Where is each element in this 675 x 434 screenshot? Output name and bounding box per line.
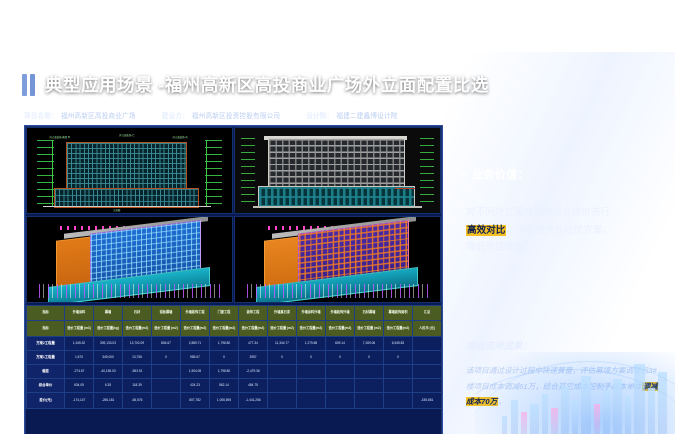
cell: 562.14 xyxy=(210,379,239,393)
cell: 6,545.83 xyxy=(384,337,413,351)
col-subheader: 造价工程量(m2) xyxy=(297,321,326,337)
cell: 1,904.05 xyxy=(181,365,210,379)
meta-value: 福建二建鑫博设计院 xyxy=(336,110,397,120)
cell: 634.05 xyxy=(65,379,94,393)
cell-total xyxy=(413,337,442,351)
col-header: 外墙涂料外墙 xyxy=(297,306,326,321)
cad-ground-line xyxy=(43,206,211,207)
cell xyxy=(152,365,181,379)
cell xyxy=(355,393,384,409)
cell: 2957 xyxy=(239,351,268,365)
meta-key: 设计院： xyxy=(306,110,333,120)
page-title: 典型应用场景 -福州高新区高投商业广场外立面配置比选 xyxy=(45,72,489,97)
meta-value: 福州高新区投资控股有限公司 xyxy=(192,110,280,120)
cell xyxy=(384,379,413,393)
col-header: 外墙装饰外墙 xyxy=(326,306,355,321)
facade-red-marker xyxy=(395,188,416,189)
col-header: 门窗工程 xyxy=(210,306,239,321)
slide-title-row: 典型应用场景 -福州高新区高投商业广场外立面配置比选 xyxy=(22,72,489,97)
cell: 1,798.80 xyxy=(210,365,239,379)
cell: -65,576 xyxy=(123,393,152,409)
col-subheader: 造价工程量(kg) xyxy=(94,321,123,337)
cell: 985.67 xyxy=(181,351,210,365)
cell-total xyxy=(413,379,442,393)
meta-key: 项目名称： xyxy=(24,110,58,120)
col-subheader: 造价工程量 (m2) xyxy=(355,321,384,337)
meta-key: 建设方： xyxy=(162,110,189,120)
table-row: 差价(元) -174,147 -256,181 -65,576 807,782 … xyxy=(27,393,442,409)
table-row: 综合单价 634.05 6.35 118.39 424.23 562.14 48… xyxy=(27,379,442,393)
cad-label-note: 立面图 xyxy=(113,208,120,212)
cell: 118.39 xyxy=(123,379,152,393)
cost-comparison-table: 指标 外墙涂料 幕墙 石材 铝板幕墙 外墙装饰工程 门窗工程 装饰工程 外墙真石… xyxy=(26,305,441,409)
row-label: 偏差 xyxy=(27,365,65,379)
facade-ground-line xyxy=(253,206,421,208)
cell: -2,479.36 xyxy=(239,365,268,379)
project-result-block: 项目应用成果： 该项目通过设计过程中快速算量，评估幕墙方案调整后3#楼项目成本调… xyxy=(466,338,662,410)
cell: 0 xyxy=(384,351,413,365)
bim-landscape-icon xyxy=(247,284,427,298)
business-value-paragraph: 对不同外立面方案的综合造价进行 高效对比，选取经济性较优方案， 降低项目成本。 xyxy=(466,204,666,257)
cell xyxy=(384,365,413,379)
cell xyxy=(297,393,326,409)
cell: 0 xyxy=(326,351,355,365)
cell xyxy=(268,365,297,379)
cell: -553.91 xyxy=(123,365,152,379)
paragraph-line-3: 降低项目成本。 xyxy=(466,242,533,253)
cell xyxy=(297,379,326,393)
bim-landscape-icon xyxy=(39,284,219,298)
col-header: 指标 xyxy=(27,306,65,321)
table-header-row-top: 指标 外墙涂料 幕墙 石材 铝板幕墙 外墙装饰工程 门窗工程 装饰工程 外墙真石… xyxy=(27,306,442,321)
cell xyxy=(355,365,384,379)
cell xyxy=(152,393,181,409)
col-header: 铝板幕墙 xyxy=(152,306,181,321)
cost-comparison-table-wrap: 指标 外墙涂料 幕墙 石材 铝板幕墙 外墙装饰工程 门窗工程 装饰工程 外墙真石… xyxy=(26,305,441,434)
bim-canvas-2 xyxy=(235,217,440,302)
col-subheader: 造价工程量(m2) xyxy=(239,321,268,337)
cell: 0 xyxy=(268,351,297,365)
cell xyxy=(268,379,297,393)
row-label: 差价(元) xyxy=(27,393,65,409)
paragraph-line-2: ，选取经济性较优方案， xyxy=(506,225,612,236)
cell: 0 xyxy=(210,351,239,365)
cad-elevation-drawing: 外立面装饰-幕墙 甲 外立面装饰-乙 外立面装饰-丙 立面图 xyxy=(26,127,233,214)
cell: 349,000 xyxy=(94,351,123,365)
project-result-body: 该项目通过设计过程中快速算量，评估幕墙方案调整后3#楼项目成本调减61万，结合其… xyxy=(466,363,662,410)
content-card: 外立面装饰-幕墙 甲 外立面装饰-乙 外立面装饰-丙 立面图 xyxy=(24,125,443,434)
skyline-building xyxy=(502,416,507,434)
table-header-row-sub: 指标 造价工程量 (m3) 造价工程量(kg) 造价工程量(m2) 造价工程量 … xyxy=(27,321,442,337)
row-label: 方案2工程量 xyxy=(27,337,65,351)
bim-model-scheme-1 xyxy=(26,216,233,303)
business-value-heading: 业务价值： xyxy=(462,166,529,182)
cell xyxy=(326,365,355,379)
col-header: 幕墙 xyxy=(94,306,123,321)
cell xyxy=(355,379,384,393)
cell: -174,147 xyxy=(65,393,94,409)
cell: 6.35 xyxy=(94,379,123,393)
meta-item-owner: 建设方： 福州高新区投资控股有限公司 xyxy=(162,110,281,120)
cad-label-left: 外立面装饰-幕墙 甲 xyxy=(50,135,71,139)
col-header: 外墙涂料 xyxy=(65,306,94,321)
result-text: 该项目通过设计过程中快速算量，评估幕墙方案调整后3#楼项目成本调减61万，结合其… xyxy=(466,366,657,391)
col-header: 外墙装饰工程 xyxy=(181,306,210,321)
col-subheader: 造价工程量(m2) xyxy=(181,321,210,337)
cell: 424.23 xyxy=(181,379,210,393)
cell: 11,344.77 xyxy=(268,337,297,351)
bim-model-scheme-2 xyxy=(234,216,441,303)
drawings-grid: 外立面装饰-幕墙 甲 外立面装饰-乙 外立面装饰-丙 立面图 xyxy=(26,127,441,304)
cell xyxy=(326,379,355,393)
col-subheader: 造价工程量 (m2) xyxy=(268,321,297,337)
cell: 609.14 xyxy=(326,337,355,351)
cell: 1,006,695 xyxy=(210,393,239,409)
col-subheader: 造价工程量 (m3) xyxy=(65,321,94,337)
cell: 13,702.09 xyxy=(123,337,152,351)
col-subheader: 造价工程量(m2) xyxy=(384,321,413,337)
cell: 484.75 xyxy=(239,379,268,393)
project-meta-line: 项目名称： 福州高新区高投商业广场 建设方： 福州高新区投资控股有限公司 设计院… xyxy=(24,110,398,120)
dimension-strip-right-icon xyxy=(205,140,221,206)
cell: -274.67 xyxy=(65,365,94,379)
meta-item-project-name: 项目名称： 福州高新区高投商业广场 xyxy=(24,110,136,120)
paragraph-highlight: 高效对比 xyxy=(466,225,506,236)
facade-podium xyxy=(258,186,416,208)
skyline-building-accent xyxy=(521,412,527,434)
table-head: 指标 外墙涂料 幕墙 石材 铝板幕墙 外墙装饰工程 门窗工程 装饰工程 外墙真石… xyxy=(27,306,442,337)
col-header: 石材幕墙 xyxy=(355,306,384,321)
col-subheader: 造价工程量(m2) xyxy=(210,321,239,337)
col-header: 石材 xyxy=(123,306,152,321)
col-subheader: 造价工程量(m3) xyxy=(326,321,355,337)
facade-tower xyxy=(268,138,405,188)
cell xyxy=(384,393,413,409)
cell: 0 xyxy=(297,351,326,365)
cad-podium xyxy=(54,188,200,209)
cell: 0 xyxy=(152,351,181,365)
cell: 1,279.68 xyxy=(297,337,326,351)
cad-label-mid: 外立面装饰-乙 xyxy=(119,133,134,137)
facade-canvas xyxy=(235,128,440,213)
cell: 1,798.80 xyxy=(210,337,239,351)
col-subheader: 造价工程量(m2) xyxy=(123,321,152,337)
title-accent-bars-icon xyxy=(22,74,35,96)
cell: -40,155.03 xyxy=(94,365,123,379)
col-subheader: 造价工程量 (m2) xyxy=(152,321,181,337)
cell: 2,889.71 xyxy=(181,337,210,351)
slide-stage: 典型应用场景 -福州高新区高投商业广场外立面配置比选 项目名称： 福州高新区高投… xyxy=(0,0,675,434)
dimension-strip-right-icon xyxy=(420,138,434,206)
cell xyxy=(152,379,181,393)
col-header: 装饰工程 xyxy=(239,306,268,321)
col-subheader-total: 人民币 (元) xyxy=(413,321,442,337)
business-value-label: 业务价值： xyxy=(472,166,529,182)
table-row: 方案1工程量 1,670 349,000 13,756 0 985.67 0 2… xyxy=(27,351,442,365)
cell-total xyxy=(413,365,442,379)
bullet-dot-icon xyxy=(462,173,465,176)
cell: 806.67 xyxy=(152,337,181,351)
cell-total: -155,661 xyxy=(413,393,442,409)
presentation-slide: 典型应用场景 -福州高新区高投商业广场外立面配置比选 项目名称： 福州高新区高投… xyxy=(0,52,675,434)
dimension-strip-left-icon xyxy=(241,138,255,206)
axis-line-left-icon xyxy=(52,140,53,206)
table-row: 偏差 -274.67 -40,155.03 -553.91 1,904.05 1… xyxy=(27,365,442,379)
col-header: 幕墙装饰面积 xyxy=(384,306,413,321)
row-label: 方案1工程量 xyxy=(27,351,65,365)
cell: -1,441,256 xyxy=(239,393,268,409)
paragraph-line-1: 对不同外立面方案的综合造价进行 xyxy=(466,207,610,218)
cad-label-right: 外立面装饰-丙 xyxy=(173,135,188,139)
cell xyxy=(326,393,355,409)
cell: 309,133.03 xyxy=(94,337,123,351)
cell: 807,782 xyxy=(181,393,210,409)
row-label: 综合单价 xyxy=(27,379,65,393)
col-header-total: 汇总 xyxy=(413,306,442,321)
cell xyxy=(268,393,297,409)
cell: -256,181 xyxy=(94,393,123,409)
cell xyxy=(297,365,326,379)
bim-canvas-1 xyxy=(27,217,232,302)
rendered-facade-elevation xyxy=(234,127,441,214)
cell: 1,670 xyxy=(65,351,94,365)
table-row: 方案2工程量 1,345.32 309,133.03 13,702.09 806… xyxy=(27,337,442,351)
cell: 1,345.32 xyxy=(65,337,94,351)
table-body: 方案2工程量 1,345.32 309,133.03 13,702.09 806… xyxy=(27,337,442,409)
cell-total xyxy=(413,351,442,365)
meta-value: 福州高新区高投商业广场 xyxy=(61,110,136,120)
col-subheader: 指标 xyxy=(27,321,65,337)
cell: 13,756 xyxy=(123,351,152,365)
result-text-end: 。 xyxy=(498,397,506,406)
meta-item-design-institute: 设计院： 福建二建鑫博设计院 xyxy=(306,110,397,120)
project-result-title: 项目应用成果： xyxy=(466,338,662,352)
skyline-building-accent xyxy=(551,408,558,434)
cell: 0 xyxy=(355,351,384,365)
cell: 7,269.06 xyxy=(355,337,384,351)
cad-canvas: 外立面装饰-幕墙 甲 外立面装饰-乙 外立面装饰-丙 立面图 xyxy=(27,128,232,213)
cell: 477.34 xyxy=(239,337,268,351)
col-header: 外墙真石漆 xyxy=(268,306,297,321)
